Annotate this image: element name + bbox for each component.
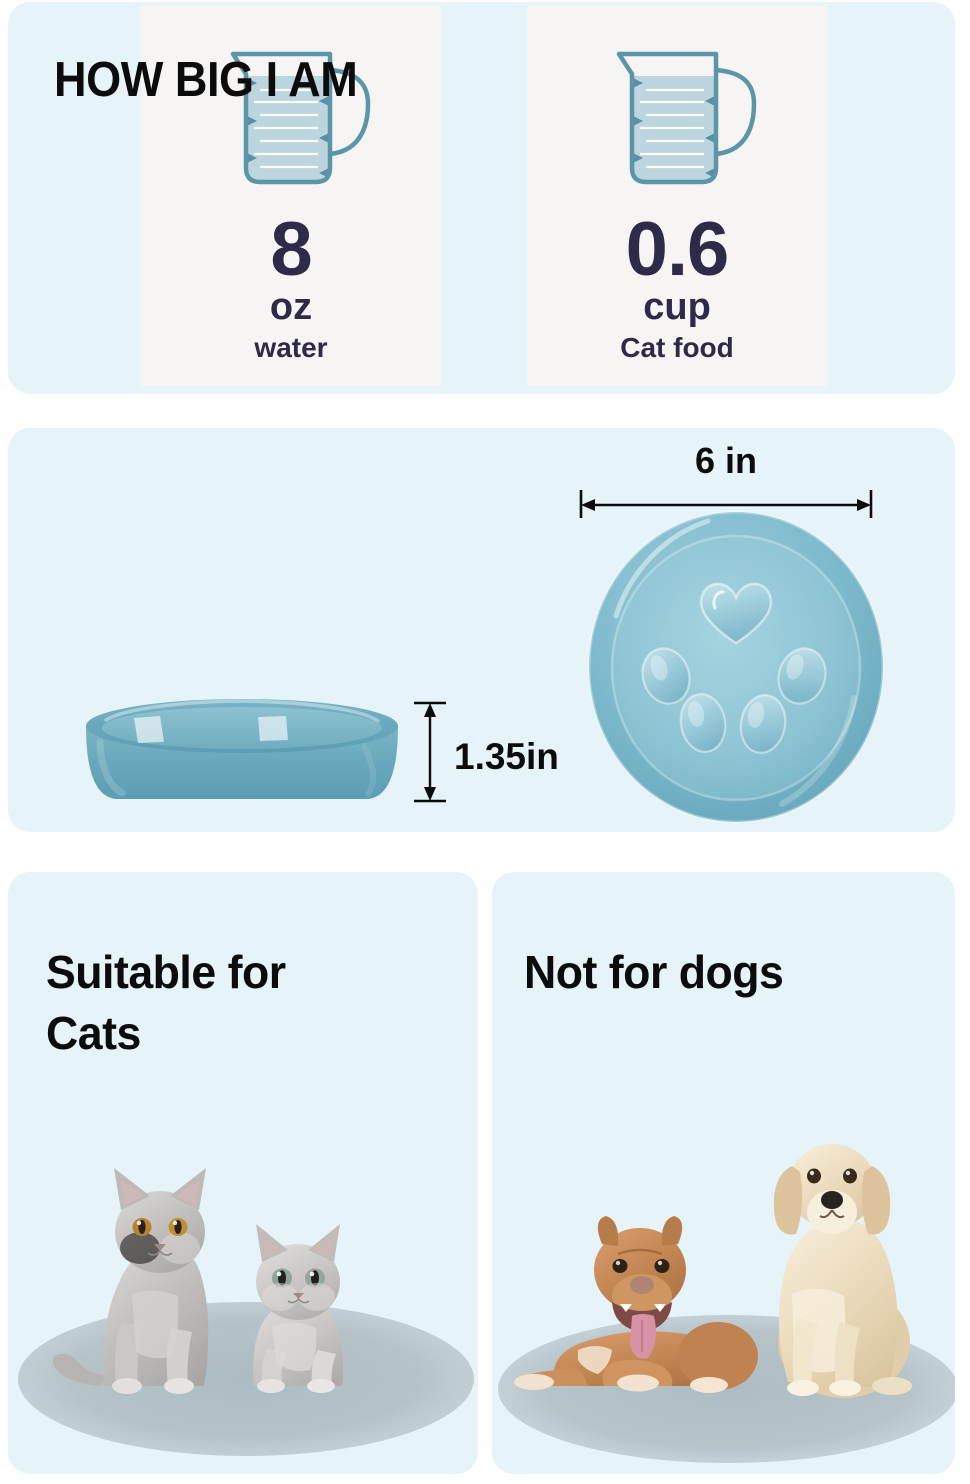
title-line: Suitable for — [46, 942, 286, 1003]
slow-feeder-bowl-top-view — [586, 508, 886, 826]
feeding-card-cat-food: 0.6 cup Cat food — [527, 6, 827, 386]
height-dimension-arrow — [410, 700, 450, 804]
feeding-subject: Cat food — [620, 332, 734, 364]
not-for-dogs-panel: Not for dogs — [492, 872, 955, 1474]
feeding-value: 0.6 — [626, 214, 729, 286]
page-title: HOW BIG I AM — [54, 52, 357, 108]
golden-retriever — [774, 1144, 912, 1398]
feeding-unit: oz — [270, 288, 312, 328]
product-infographic: 8 oz water — [0, 0, 970, 1484]
height-dimension-label: 1.35in — [454, 736, 559, 778]
title-line: Cats — [46, 1003, 286, 1064]
feeding-unit: cup — [643, 288, 711, 328]
width-dimension-label: 6 in — [578, 440, 874, 482]
measuring-cup-icon — [582, 28, 772, 208]
two-dogs-photo — [492, 1094, 955, 1474]
suitable-for-cats-title: Suitable for Cats — [46, 942, 286, 1063]
height-dimension: 1.35in — [410, 700, 620, 808]
feeding-subject: water — [254, 332, 327, 364]
two-grey-cats-photo — [8, 1094, 478, 1474]
feeding-value: 8 — [270, 214, 311, 286]
ceramic-bowl-side-view — [72, 690, 412, 810]
title-line: Not for dogs — [524, 942, 783, 1003]
suitable-for-cats-panel: Suitable for Cats — [8, 872, 478, 1474]
width-dimension: 6 in — [578, 446, 874, 512]
not-for-dogs-title: Not for dogs — [524, 942, 783, 1003]
